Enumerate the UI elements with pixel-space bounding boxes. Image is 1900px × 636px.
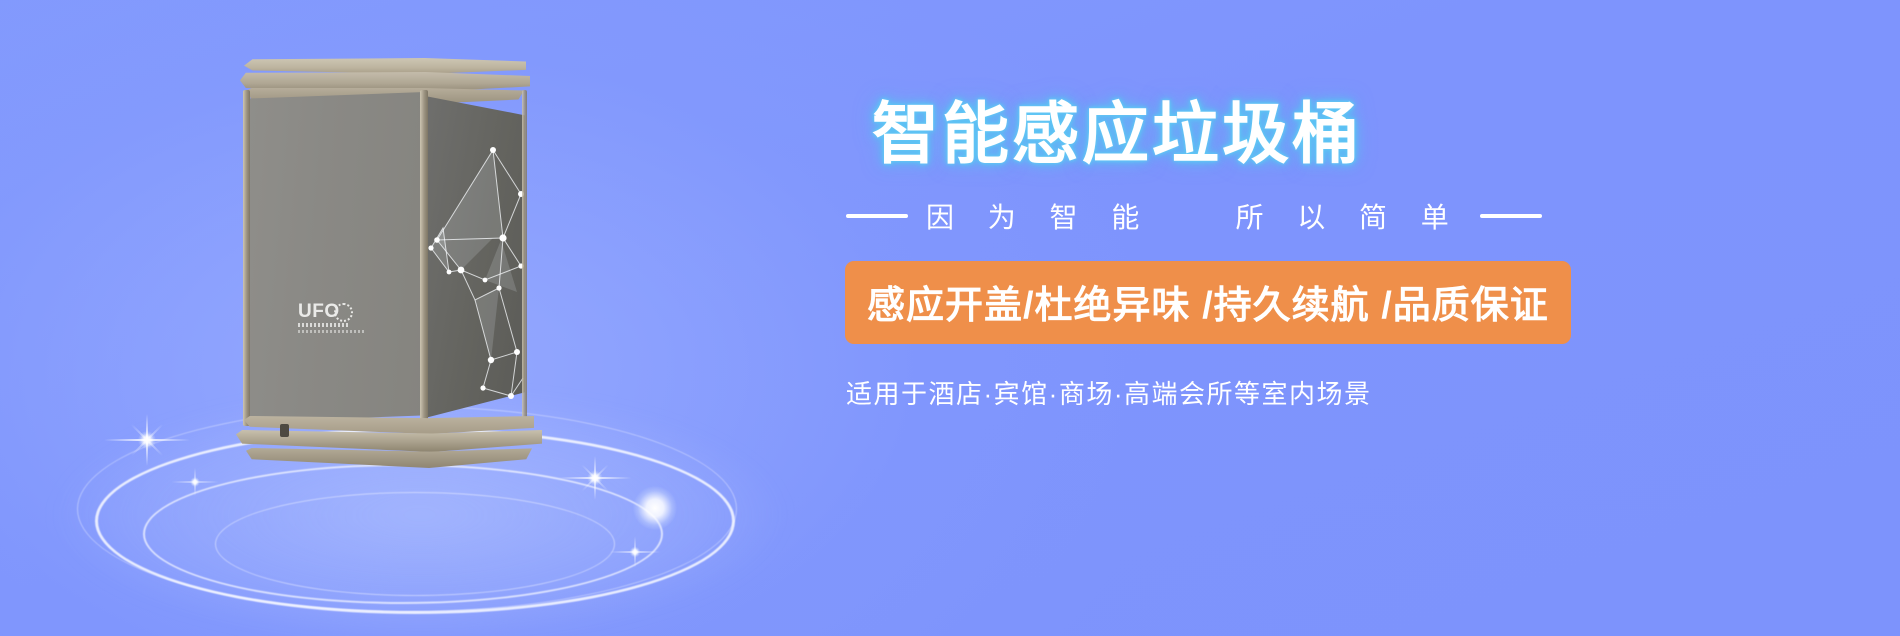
trash-bin: UFO (240, 30, 530, 460)
bin-base-slot (280, 424, 289, 437)
logo-circle-icon (334, 303, 353, 322)
usage-scene-text: 适用于酒店·宾馆·商场·高端会所等室内场景 (846, 374, 1840, 411)
product-image: UFO (185, 30, 745, 600)
promo-banner: UFO 智能感应垃圾桶 因 为 智 能 所 以 简 单 感应开盖/杜绝异味 /持… (0, 0, 1900, 636)
subtitle-text: 因 为 智 能 所 以 简 单 (926, 196, 1462, 236)
subtitle-row: 因 为 智 能 所 以 简 单 (846, 196, 1840, 236)
brand-logo: UFO (298, 302, 372, 344)
bin-edge-right (522, 90, 527, 426)
subtitle-dash-left (846, 214, 908, 218)
feature-tagline-text: 感应开盖/杜绝异味 /持久续航 /品质保证 (867, 285, 1549, 327)
logo-subtext-line-2 (298, 330, 364, 333)
bin-base (236, 416, 542, 472)
feature-tagline-banner: 感应开盖/杜绝异味 /持久续航 /品质保证 (845, 261, 1571, 344)
ring-inner (215, 492, 615, 596)
bin-edge-left (243, 90, 250, 426)
logo-subtext-line-1 (298, 323, 350, 327)
polygon-network-pattern (425, 120, 527, 410)
subtitle-dash-right (1480, 214, 1542, 218)
page-title: 智能感应垃圾桶 (872, 100, 1840, 170)
bin-body-front (247, 92, 425, 422)
bin-edge-center (420, 90, 428, 426)
copy-block: 智能感应垃圾桶 因 为 智 能 所 以 简 单 感应开盖/杜绝异味 /持久续航 … (860, 100, 1840, 411)
